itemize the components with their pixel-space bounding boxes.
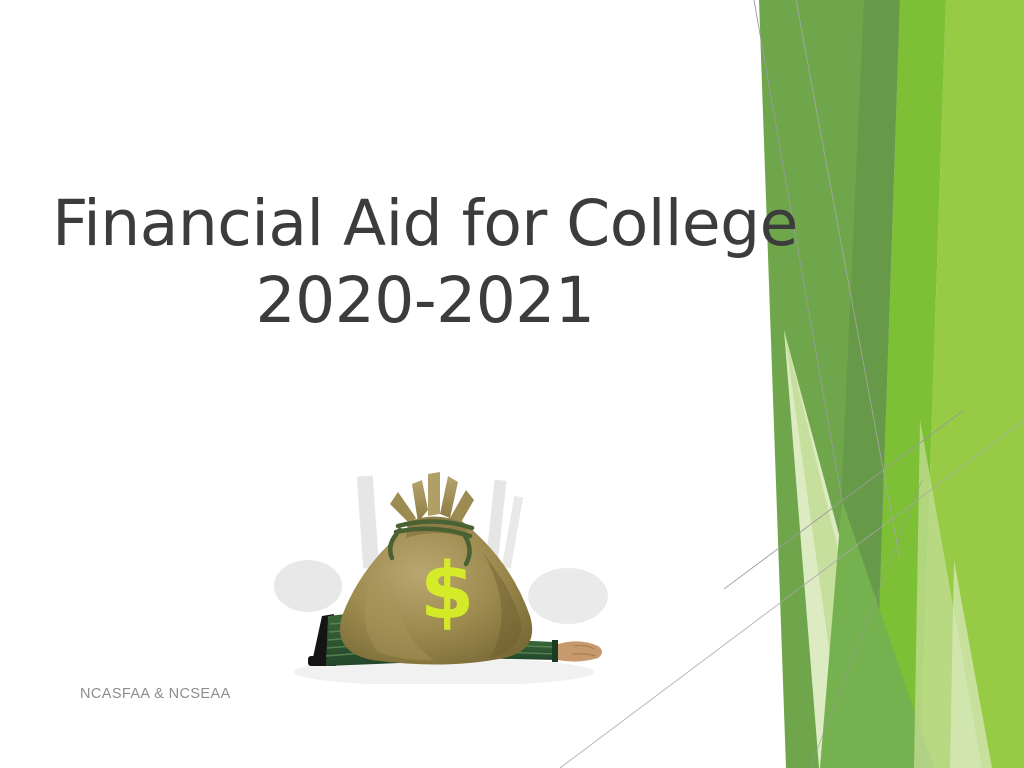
decor-shape-leaf-lower [820,500,934,768]
decor-shape-dark-shade [832,0,900,768]
footer-credit: NCASFAA & NCSEAA [80,686,231,702]
hairline-bottom-diagonal [560,420,1024,768]
money-bag-image: $ [268,466,620,684]
slide-title-block: Financial Aid for College 2020-2021 [0,186,850,340]
title-line-1: Financial Aid for College [0,186,850,263]
decor-shape-pale-right [914,420,982,768]
dollar-sign: $ [420,547,474,637]
decor-hairline-cross [724,410,964,768]
decor-hairline-lower [810,480,922,768]
decor-shape-dark-green [759,0,900,768]
presentation-slide: Financial Aid for College 2020-2021 [0,0,1024,768]
dollar-sign-glyph: $ [420,547,474,637]
decor-shape-bright-green [874,0,946,768]
green-angled-band-decoration [724,0,1024,768]
decor-shape-pale-sliver-right [950,560,992,768]
decor-shape-light-mid [784,330,892,768]
decor-shape-lime-right [920,0,1024,768]
decor-shape-pale-lower-left [784,330,902,768]
title-line-2: 2020-2021 [0,263,850,340]
